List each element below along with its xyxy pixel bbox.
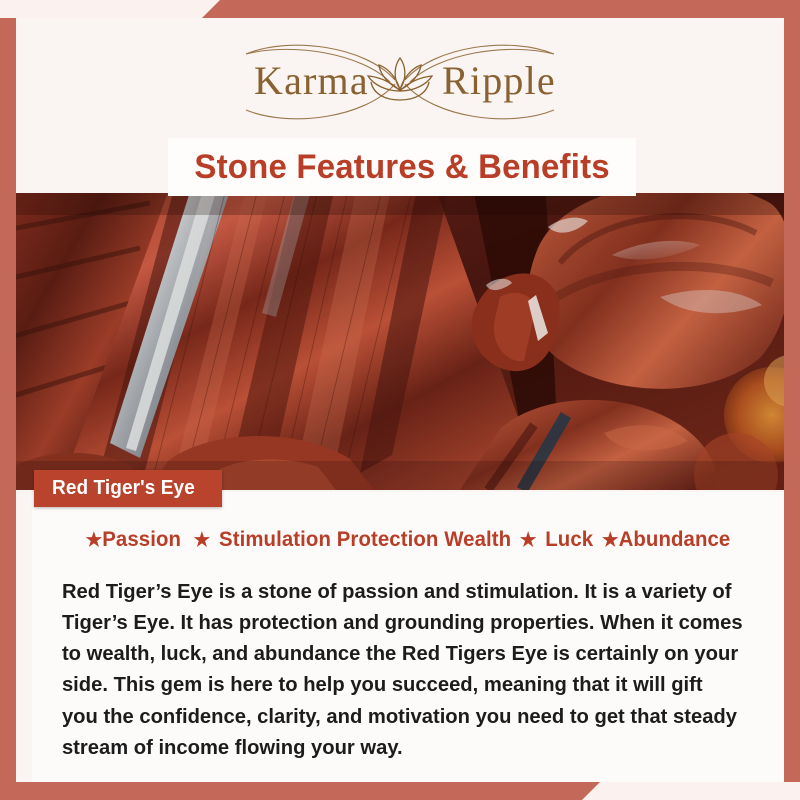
keyword-list: ★Passion★Stimulation Protection Wealth★L… — [69, 528, 748, 552]
page-title-plate: Stone Features & Benefits — [168, 138, 636, 196]
keyword-luck: Luck — [545, 528, 593, 551]
keyword-passion: Passion — [102, 528, 181, 551]
stone-description: Red Tiger’s Eye is a stone of passion an… — [58, 576, 748, 763]
stone-photo — [16, 193, 784, 490]
brand-logo: Karma Ripple — [16, 26, 784, 138]
stone-name: Red Tiger's Eye — [52, 477, 195, 500]
page-title: Stone Features & Benefits — [194, 148, 609, 187]
brand-word-right: Ripple — [442, 58, 556, 103]
infographic-page: Karma Ripple Stone Features & Benefits — [0, 0, 800, 800]
star-icon: ★ — [86, 530, 103, 551]
frame-band-bottom — [0, 782, 800, 800]
star-icon: ★ — [602, 530, 619, 551]
star-icon: ★ — [194, 530, 211, 551]
keyword-stimulation-protection-wealth: Stimulation Protection Wealth — [219, 528, 511, 551]
stone-name-banner: Red Tiger's Eye — [34, 470, 222, 507]
content-sheet: Karma Ripple Stone Features & Benefits — [16, 18, 784, 782]
frame-band-left — [0, 18, 16, 800]
keyword-abundance: Abundance — [619, 528, 731, 551]
stone-details-card: ★Passion★Stimulation Protection Wealth★L… — [32, 492, 784, 782]
brand-word-left: Karma — [254, 58, 369, 103]
brand-logo-svg: Karma Ripple — [190, 32, 610, 132]
frame-band-top — [0, 0, 800, 18]
stone-photo-illustration — [16, 193, 784, 490]
star-icon: ★ — [520, 530, 537, 551]
frame-band-right — [784, 0, 800, 782]
lotus-icon — [368, 58, 432, 100]
